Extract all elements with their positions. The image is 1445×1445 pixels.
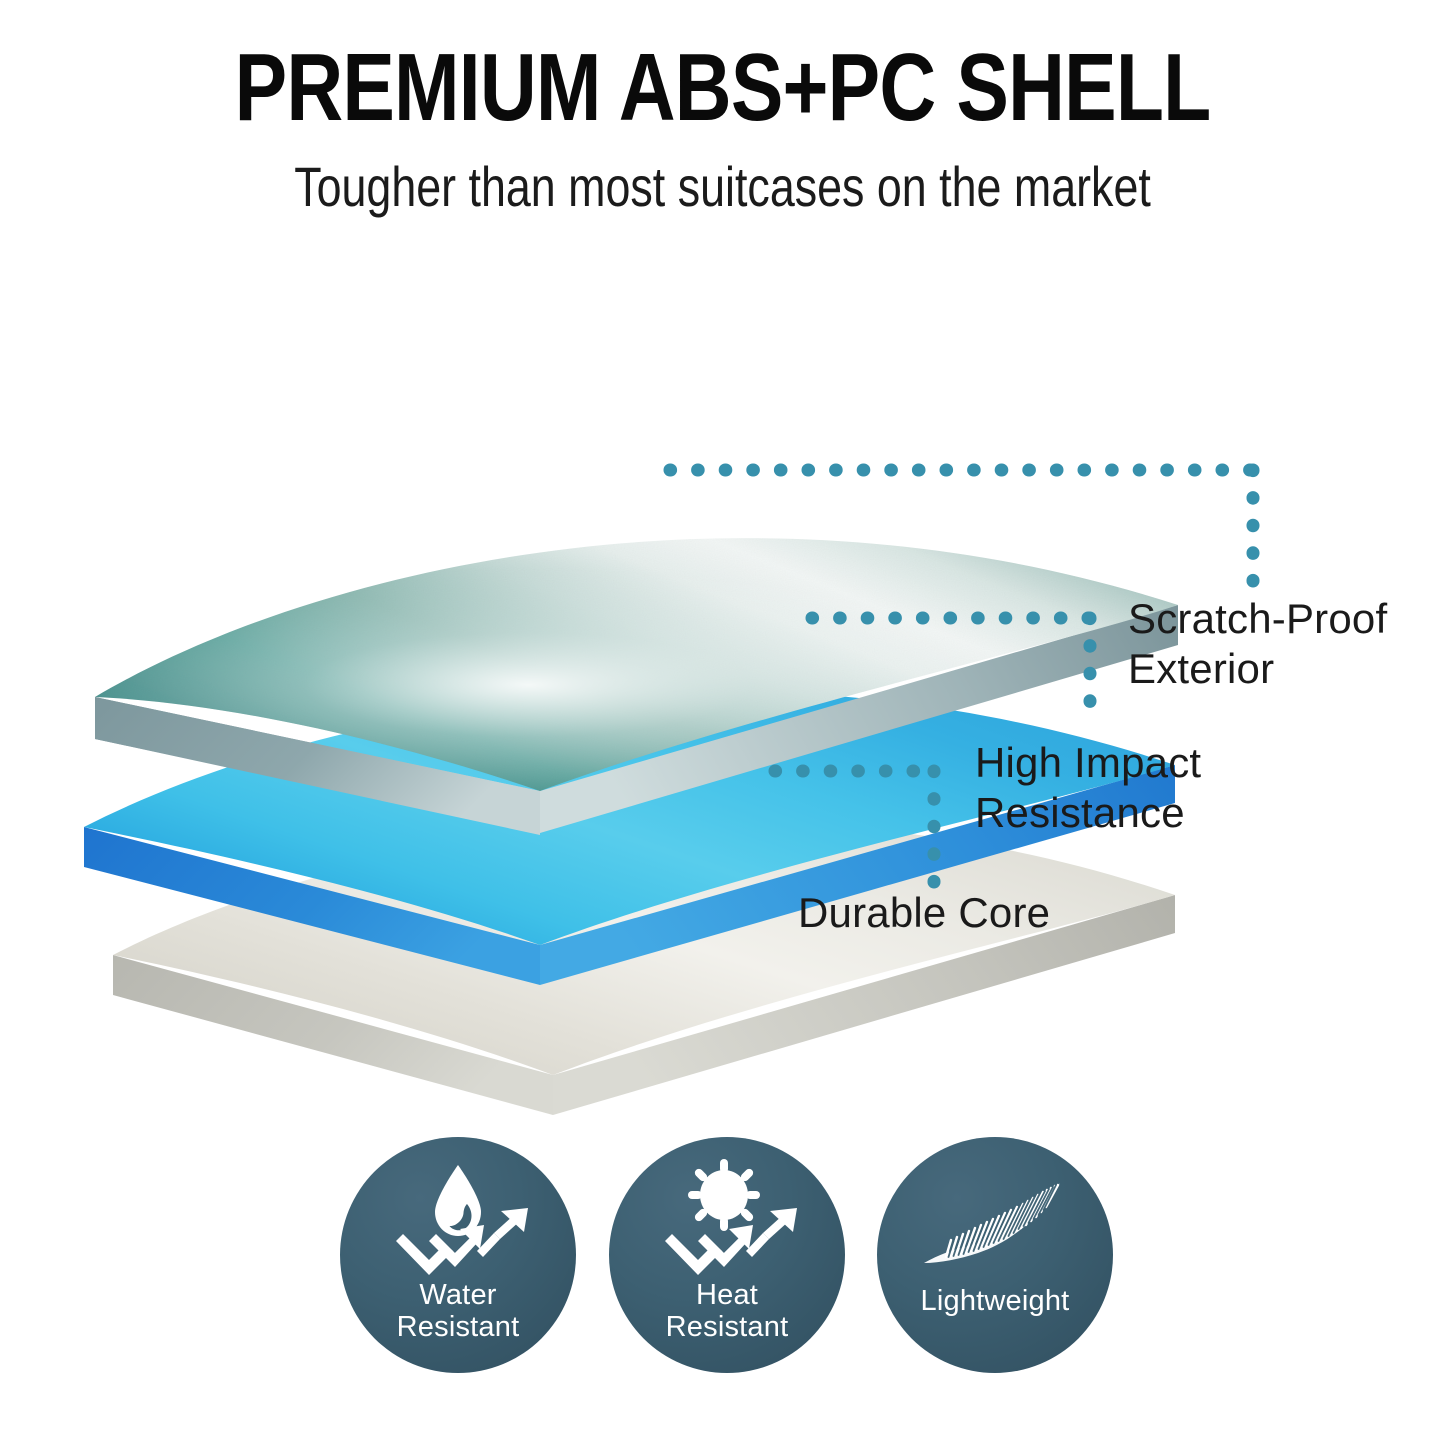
badge-water-resistant[interactable]: Water Resistant <box>340 1137 576 1373</box>
callout-high-impact-resistance: High Impact Resistance <box>975 738 1201 837</box>
callout-durable-core: Durable Core <box>798 888 1050 938</box>
callout-scratch-proof-exterior: Scratch-Proof Exterior <box>1128 594 1387 693</box>
page-title: PREMIUM ABS+PC SHELL <box>130 0 1315 136</box>
page-subtitle: Tougher than most suitcases on the marke… <box>145 136 1301 217</box>
badge-label: Lightweight <box>921 1285 1070 1317</box>
header: PREMIUM ABS+PC SHELL Tougher than most s… <box>0 0 1445 217</box>
water-drop-repel-icon <box>383 1159 533 1277</box>
feature-badges: Water Resistant <box>0 1137 1445 1382</box>
infographic-root: PREMIUM ABS+PC SHELL Tougher than most s… <box>0 0 1445 1445</box>
badge-lightweight[interactable]: Lightweight <box>877 1137 1113 1373</box>
sun-heat-repel-icon <box>652 1159 802 1277</box>
badge-heat-resistant[interactable]: Heat Resistant <box>609 1137 845 1373</box>
feather-icon <box>920 1171 1070 1277</box>
badge-label: Water Resistant <box>397 1279 520 1344</box>
badge-label: Heat Resistant <box>666 1279 789 1344</box>
